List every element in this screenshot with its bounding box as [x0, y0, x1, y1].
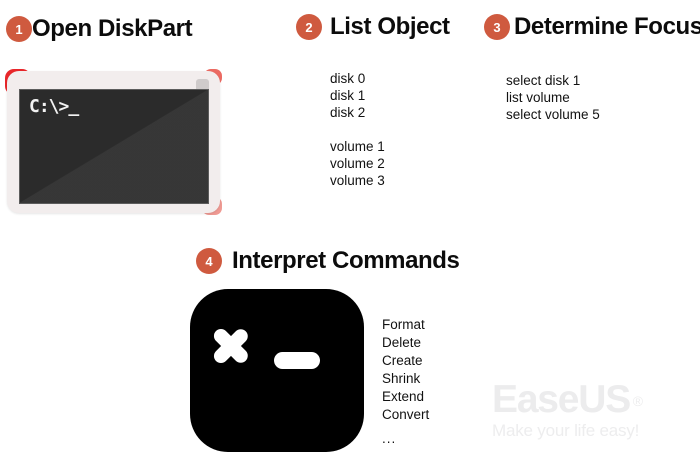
step-1-badge: 1	[6, 16, 32, 42]
infographic-canvas: 1 Open DiskPart C:\>_ 2 List Object disk…	[0, 0, 700, 464]
watermark-brand: EaseUS ®	[492, 380, 630, 420]
list-item: Convert	[382, 406, 429, 424]
terminal-window-frame: C:\>_	[7, 71, 220, 213]
chevron-right-icon	[217, 312, 263, 368]
terminal-window-illustration: C:\>_	[5, 69, 222, 215]
step-2-header: 2 List Object	[296, 14, 450, 40]
list-item: Create	[382, 352, 429, 370]
easeus-watermark: EaseUS ® Make your life easy!	[492, 380, 692, 441]
step-4-badge: 4	[196, 248, 222, 274]
step-2-title: List Object	[330, 15, 450, 39]
list-item: disk 2	[330, 104, 385, 121]
list-item: volume 3	[330, 172, 385, 189]
list-item: select volume 5	[506, 106, 600, 123]
cursor-underscore-icon	[274, 352, 320, 369]
step-3-determine-focus: 3 Determine Focus	[484, 14, 700, 40]
step-3-badge: 3	[484, 14, 510, 40]
list-item: disk 1	[330, 87, 385, 104]
watermark-tagline: Make your life easy!	[492, 421, 692, 441]
step-3-header: 3 Determine Focus	[484, 14, 700, 40]
list-item: Format	[382, 316, 429, 334]
step-4-interpret-commands: 4 Interpret Commands	[196, 248, 460, 274]
list-item: select disk 1	[506, 72, 600, 89]
registered-trademark-icon: ®	[633, 381, 643, 421]
step-4-header: 4 Interpret Commands	[196, 248, 460, 274]
step-1-title: Open DiskPart	[32, 17, 192, 41]
step-1-open-diskpart: 1 Open DiskPart	[6, 16, 192, 42]
watermark-brand-text: EaseUS	[492, 378, 630, 421]
list-item: Delete	[382, 334, 429, 352]
list-item: Extend	[382, 388, 429, 406]
step-4-title: Interpret Commands	[232, 249, 460, 273]
terminal-app-icon	[190, 289, 364, 452]
list-item: list volume	[506, 89, 600, 106]
list-gap	[330, 121, 385, 138]
terminal-prompt-text: C:\>_	[29, 96, 78, 117]
determine-focus-commands: select disk 1 list volume select volume …	[506, 72, 600, 123]
list-object-items: disk 0 disk 1 disk 2 volume 1 volume 2 v…	[330, 70, 385, 189]
terminal-screen: C:\>_	[19, 89, 209, 204]
list-item: disk 0	[330, 70, 385, 87]
step-2-list-object: 2 List Object	[296, 14, 450, 40]
list-ellipsis: ...	[382, 424, 429, 448]
list-item: volume 2	[330, 155, 385, 172]
step-2-badge: 2	[296, 14, 322, 40]
list-item: Shrink	[382, 370, 429, 388]
step-1-header: 1 Open DiskPart	[6, 16, 192, 42]
interpret-commands-list: Format Delete Create Shrink Extend Conve…	[382, 316, 429, 448]
step-3-title: Determine Focus	[514, 15, 700, 39]
list-item: volume 1	[330, 138, 385, 155]
